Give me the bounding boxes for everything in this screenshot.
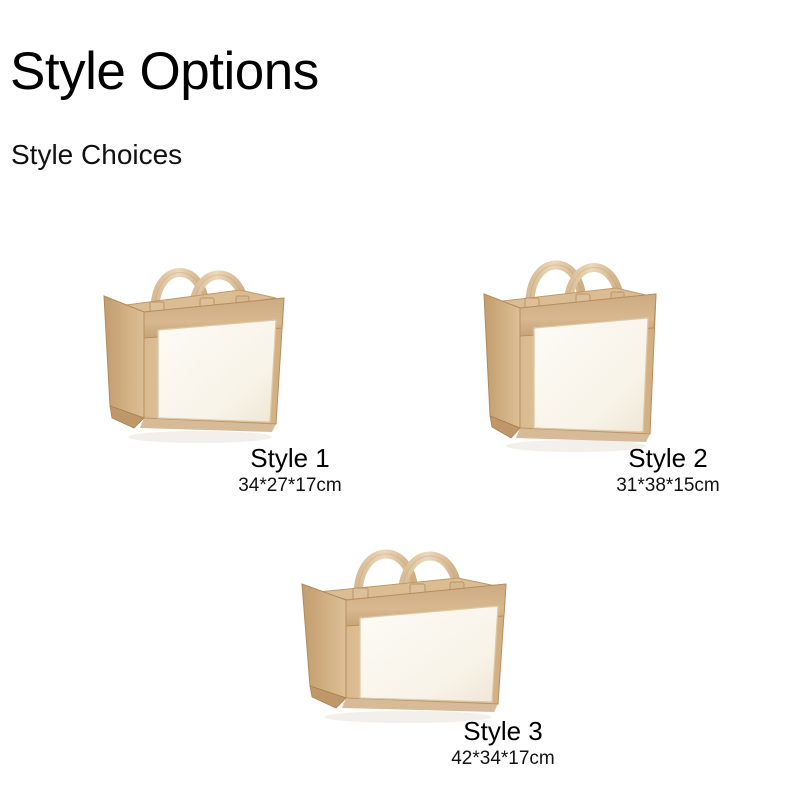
caption-style-3: Style 3 42*34*17cm (408, 717, 598, 770)
product-dimensions-style-1: 34*27*17cm (200, 475, 380, 497)
product-style-3: Style 3 42*34*17cm (298, 512, 528, 742)
product-style-2: Style 2 31*38*15cm (478, 232, 678, 462)
page-subtitle: Style Choices (11, 140, 182, 171)
bag-image-style-2 (478, 232, 668, 454)
product-style-1: Style 1 34*27*17cm (100, 232, 300, 462)
product-name-style-3: Style 3 (408, 717, 598, 745)
caption-style-2: Style 2 31*38*15cm (578, 444, 758, 497)
product-name-style-1: Style 1 (200, 444, 380, 472)
product-name-style-2: Style 2 (578, 444, 758, 472)
bag-image-style-3 (298, 512, 513, 734)
product-dimensions-style-2: 31*38*15cm (578, 475, 758, 497)
caption-style-1: Style 1 34*27*17cm (200, 444, 380, 497)
bag-image-style-1 (100, 232, 290, 454)
product-dimensions-style-3: 42*34*17cm (408, 748, 598, 770)
page-title: Style Options (10, 44, 319, 100)
